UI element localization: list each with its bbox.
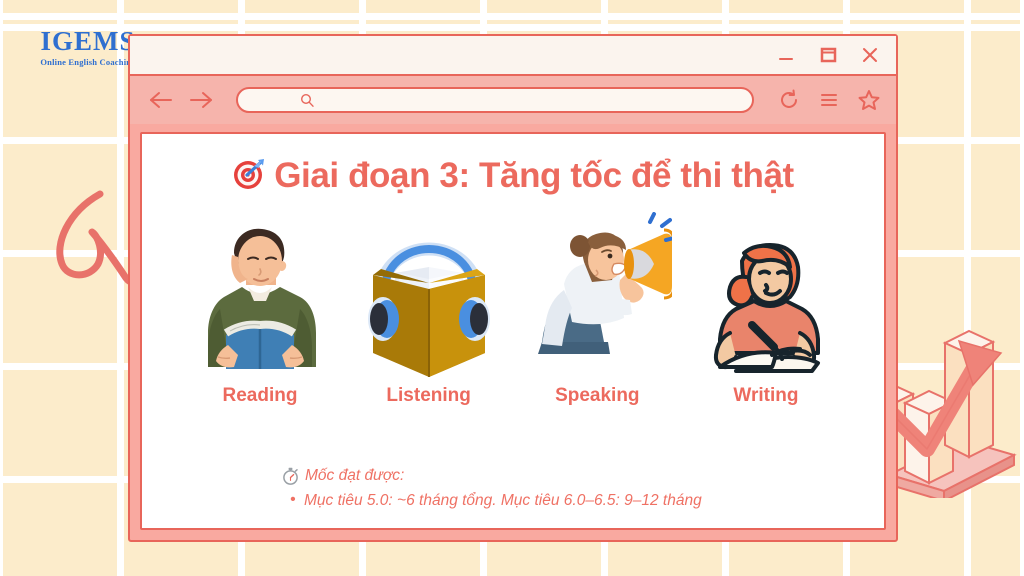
skill-card-listening[interactable]: Listening [349, 212, 509, 407]
close-icon [860, 45, 880, 65]
minimize-icon [776, 45, 796, 65]
reload-icon [777, 88, 801, 112]
maximize-icon [818, 45, 838, 65]
hamburger-menu-icon [817, 88, 841, 112]
reload-button[interactable] [776, 87, 802, 113]
menu-button[interactable] [816, 87, 842, 113]
milestone-heading-text: Mốc đạt được: [305, 464, 404, 487]
skill-card-reading[interactable]: Reading [180, 212, 340, 407]
back-button[interactable] [148, 87, 174, 113]
book-with-headphones-illustration [349, 212, 509, 377]
skill-card-writing[interactable]: Writing [686, 212, 846, 407]
star-icon [857, 88, 881, 112]
milestone-note-heading: Mốc đạt được: [282, 464, 702, 487]
back-arrow-icon [148, 89, 174, 111]
page-title: Giai đoạn 3: Tăng tốc để thi thật [142, 156, 884, 200]
woman-writing-notebook-illustration [686, 212, 846, 377]
skill-label-speaking: Speaking [517, 385, 677, 407]
address-bar[interactable] [236, 87, 754, 113]
list-item: Mục tiêu 5.0: ~6 tháng tổng. Mục tiêu 6.… [304, 489, 702, 512]
milestone-list: Mục tiêu 5.0: ~6 tháng tổng. Mục tiêu 6.… [282, 489, 702, 512]
browser-window: Giai đoạn 3: Tăng tốc để thi thật [128, 34, 898, 542]
screenshot-canvas: IGEMS Online English Coaching [0, 0, 1024, 576]
maximize-button[interactable] [818, 45, 838, 65]
close-button[interactable] [860, 45, 880, 65]
skill-label-writing: Writing [686, 385, 846, 407]
browser-titlebar [130, 36, 896, 76]
skills-row: Reading [180, 212, 846, 407]
bookmark-button[interactable] [856, 87, 882, 113]
forward-arrow-icon [188, 89, 214, 111]
page-viewport: Giai đoạn 3: Tăng tốc để thi thật [140, 132, 886, 530]
target-dart-emoji [232, 157, 266, 200]
search-icon [300, 93, 315, 108]
skill-card-speaking[interactable]: Speaking [517, 212, 677, 407]
skill-label-listening: Listening [349, 385, 509, 407]
skill-label-reading: Reading [180, 385, 340, 407]
minimize-button[interactable] [776, 45, 796, 65]
stopwatch-emoji [282, 467, 299, 485]
woman-with-megaphone-illustration [517, 212, 677, 377]
milestone-note: Mốc đạt được: Mục tiêu 5.0: ~6 tháng tổn… [282, 464, 702, 513]
forward-button[interactable] [188, 87, 214, 113]
browser-toolbar [130, 76, 896, 124]
page-title-text: Giai đoạn 3: Tăng tốc để thi thật [274, 156, 794, 195]
man-reading-book-illustration [180, 212, 340, 377]
